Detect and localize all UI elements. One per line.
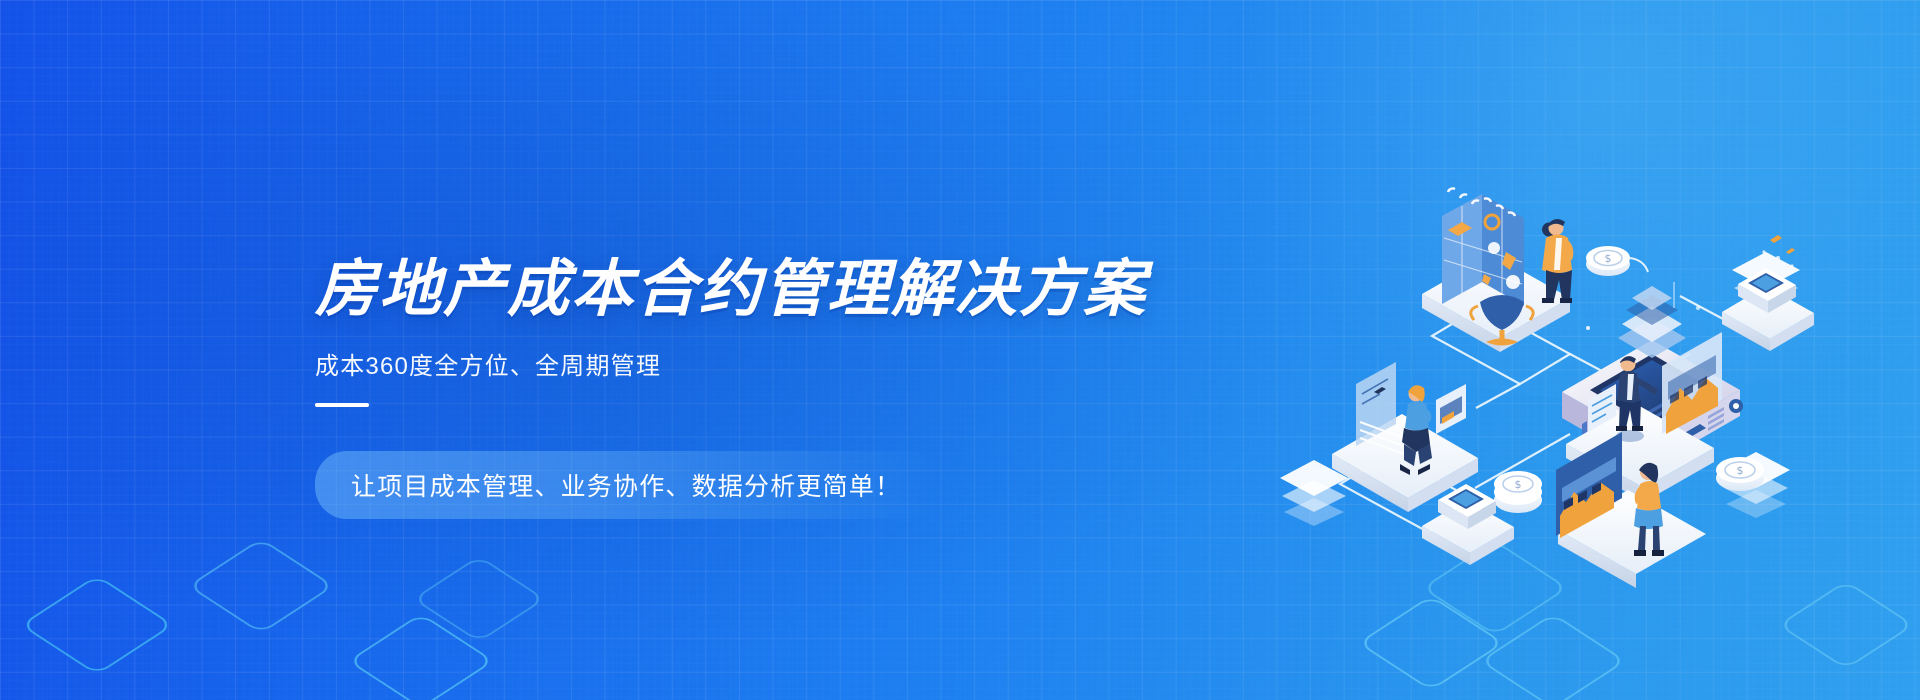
person-standing-male — [1542, 219, 1573, 303]
coin-stack-right: $ — [1716, 457, 1764, 491]
decorative-diamond-icon — [1479, 613, 1626, 700]
decorative-diamond-icon — [20, 575, 174, 675]
pedestal-top-right — [1722, 235, 1814, 351]
tagline-pill: 让项目成本管理、业务协作、数据分析更简单！ — [315, 451, 941, 519]
tablet-card — [1436, 384, 1466, 434]
hero-tagline: 让项目成本管理、业务协作、数据分析更简单！ — [351, 473, 901, 501]
coin-stack-top: $ — [1586, 246, 1648, 276]
hero-banner: 房地产成本合约管理解决方案 成本360度全方位、全周期管理 让项目成本管理、业务… — [0, 0, 1920, 700]
coin-stack-bottom: $ — [1494, 471, 1542, 513]
hero-subtitle: 成本360度全方位、全周期管理 — [315, 346, 1215, 381]
hero-copy-block: 房地产成本合约管理解决方案 成本360度全方位、全周期管理 让项目成本管理、业务… — [315, 256, 1215, 519]
decorative-diamond-icon — [347, 613, 494, 700]
decorative-diamond-icon — [187, 538, 334, 634]
svg-text:$: $ — [1515, 478, 1522, 491]
page-title: 房地产成本合约管理解决方案 — [315, 256, 1215, 322]
hero-illustration: $ — [1270, 178, 1830, 568]
decorative-diamond-icon — [1357, 595, 1504, 691]
title-divider — [315, 403, 369, 407]
decorative-diamond-icon — [412, 556, 546, 643]
svg-text:$: $ — [1605, 252, 1612, 265]
decorative-diamond-icon — [1777, 580, 1914, 669]
svg-text:$: $ — [1737, 464, 1744, 477]
